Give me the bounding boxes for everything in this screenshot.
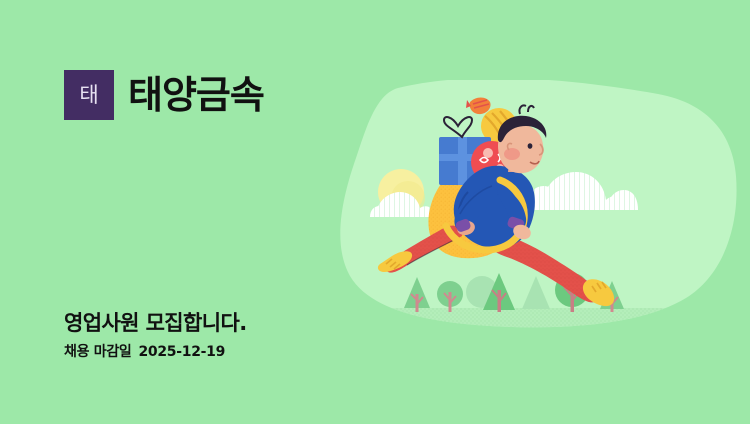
company-logo-row: 태 태양금속 [64, 70, 264, 120]
company-logo-mark: 태 [64, 70, 114, 120]
job-posting-banner: 태 태양금속 영업사원 모집합니다. 채용 마감일2025-12-19 [0, 0, 750, 424]
deadline-date: 2025-12-19 [138, 344, 225, 360]
ground-strip [340, 308, 740, 330]
illustration-running-delivery-person [340, 80, 740, 330]
deadline-label: 채용 마감일 [64, 344, 131, 360]
application-deadline: 채용 마감일2025-12-19 [64, 341, 225, 361]
job-headline: 영업사원 모집합니다. [64, 307, 247, 337]
company-name: 태양금속 [128, 76, 264, 114]
